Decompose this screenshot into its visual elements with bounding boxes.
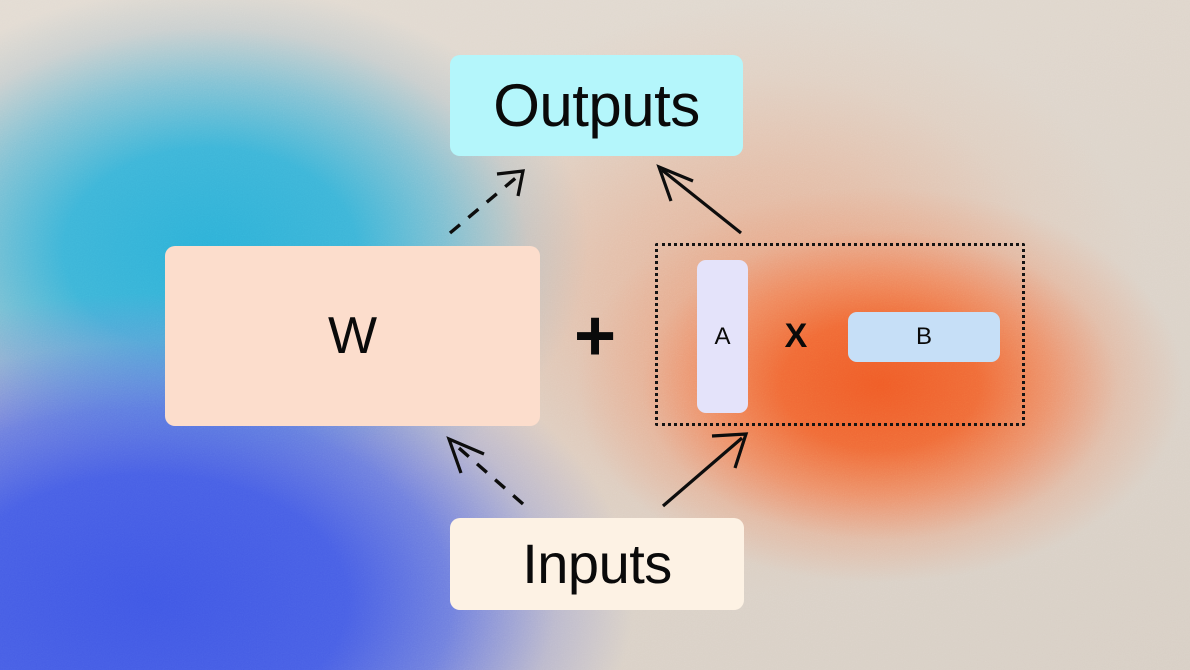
- multiply-operator: X: [774, 312, 818, 360]
- arrow-inputs-to-lora: [663, 434, 746, 506]
- node-outputs[interactable]: Outputs: [450, 55, 743, 156]
- diagram-canvas: Outputs W + A X B Inputs: [0, 0, 1190, 670]
- arrow-w-to-outputs: [450, 171, 523, 233]
- arrow-inputs-to-w: [449, 439, 523, 504]
- arrow-lora-to-outputs: [659, 167, 741, 233]
- node-b[interactable]: B: [848, 312, 1000, 362]
- plus-operator: +: [566, 303, 624, 369]
- node-inputs[interactable]: Inputs: [450, 518, 744, 610]
- node-a[interactable]: A: [697, 260, 748, 413]
- node-w[interactable]: W: [165, 246, 540, 426]
